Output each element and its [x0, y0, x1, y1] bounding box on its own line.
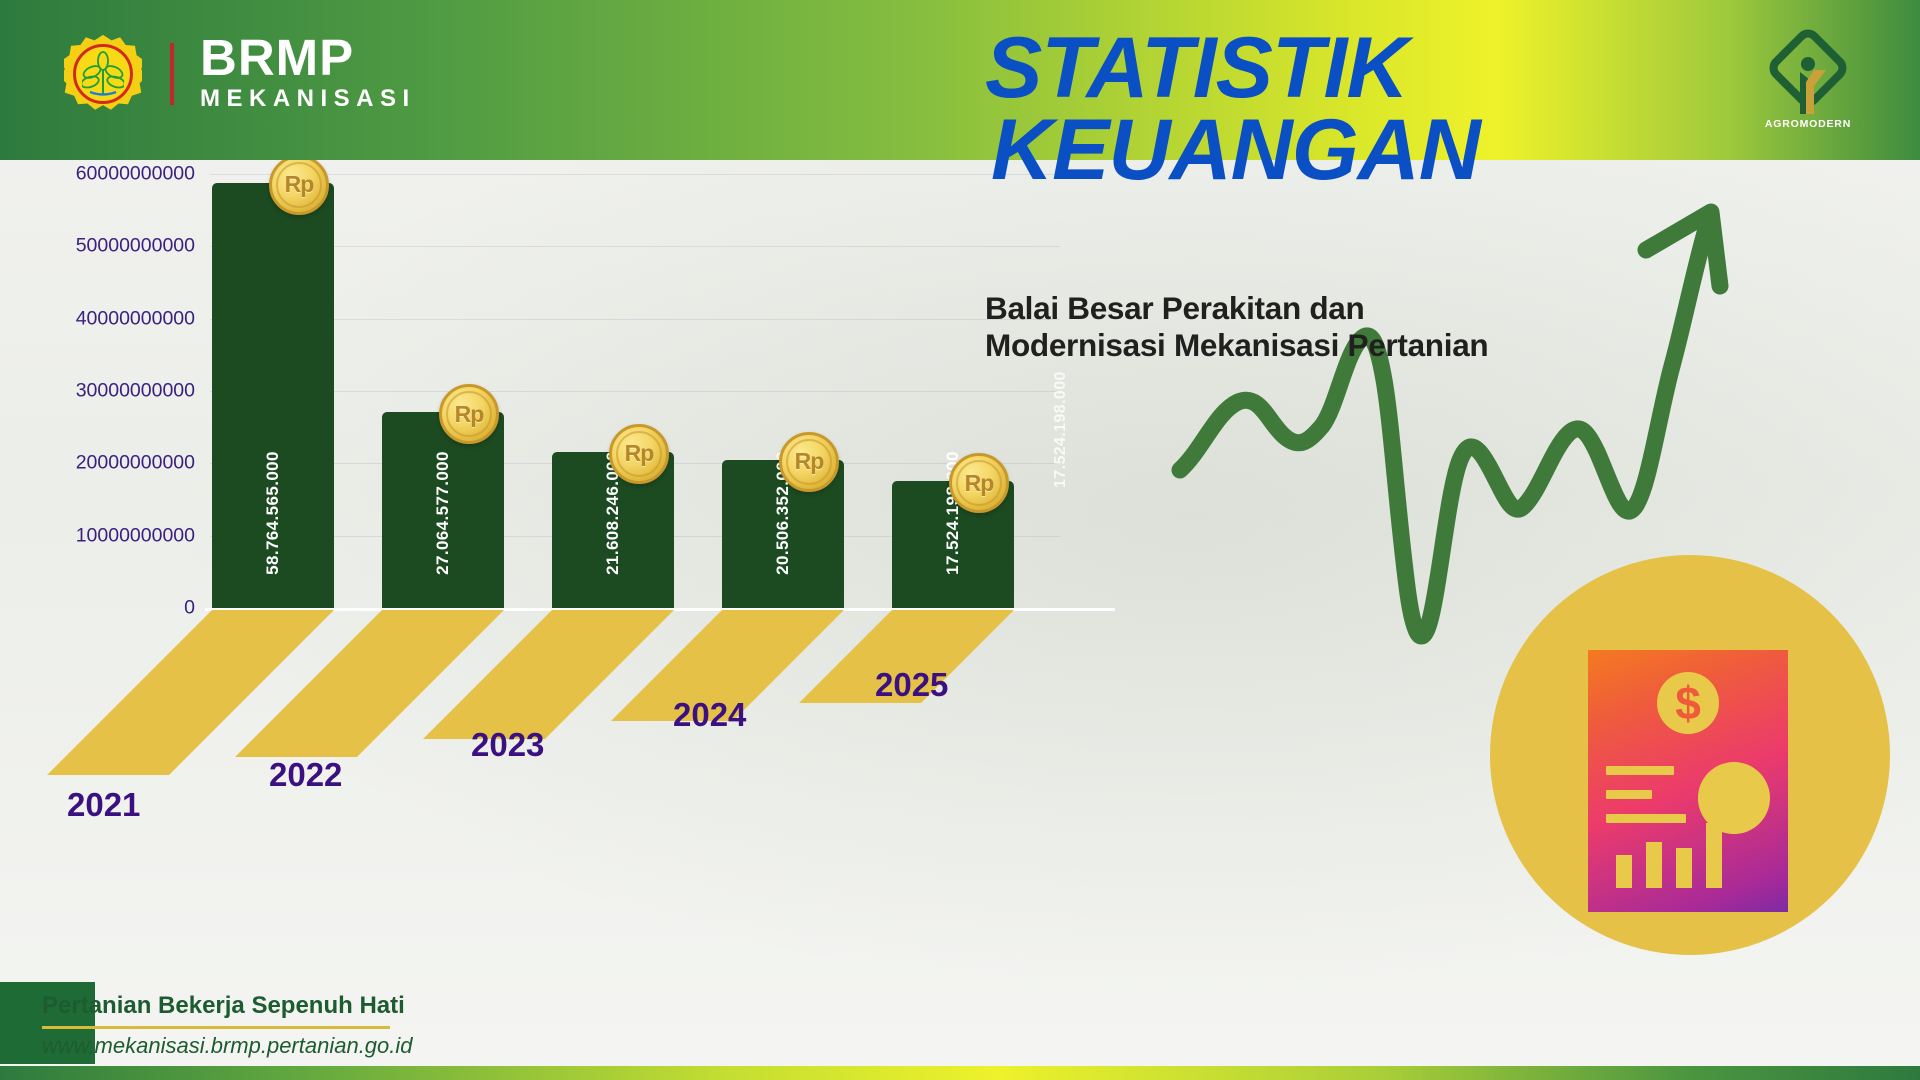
chart-plot-area: 58.764.565.000Rp202127.064.577.000Rp2022…	[0, 160, 1160, 880]
bar-2021[interactable]: 58.764.565.000	[212, 183, 334, 608]
brand-subname: MEKANISASI	[200, 85, 416, 114]
rupiah-coin-label: Rp	[616, 431, 662, 477]
bar-chart: 6000000000050000000000400000000003000000…	[0, 160, 1160, 880]
footer-divider	[42, 1026, 390, 1029]
brand-lockup: BRMP MEKANISASI	[64, 34, 416, 114]
rupiah-coin-icon: Rp	[779, 432, 839, 492]
dollar-coin-icon: $	[1657, 672, 1719, 734]
rupiah-coin-icon: Rp	[439, 384, 499, 444]
x-axis-year-label-2023: 2023	[471, 726, 544, 764]
bar-value-label: 27.064.577.000	[433, 451, 453, 575]
infographic-canvas: BRMP MEKANISASI AGROMODERN STATISTIK KEU…	[0, 0, 1920, 1080]
rupiah-coin-icon: Rp	[269, 155, 329, 215]
footer: Pertanian Bekerja Sepenuh Hati www.mekan…	[0, 970, 1920, 1080]
subtitle-line-2: Modernisasi Mekanisasi Pertanian	[985, 327, 1745, 364]
page-subtitle: Balai Besar Perakitan dan Modernisasi Me…	[985, 290, 1745, 365]
rupiah-coin-label: Rp	[446, 391, 492, 437]
financial-report-icon: $	[1588, 650, 1788, 912]
rice-plant-icon	[82, 50, 124, 98]
report-text-line	[1606, 814, 1686, 823]
rupiah-coin-label: Rp	[956, 460, 1002, 506]
subtitle-line-1: Balai Besar Perakitan dan	[985, 290, 1745, 327]
x-axis-year-label-2025: 2025	[875, 666, 948, 704]
x-axis-year-label-2022: 2022	[269, 756, 342, 794]
ministry-agriculture-seal-icon	[64, 35, 142, 113]
rupiah-coin-label: Rp	[276, 162, 322, 208]
report-text-line	[1606, 790, 1652, 799]
report-bar	[1676, 848, 1692, 888]
bar-value-label: 58.764.565.000	[263, 451, 283, 575]
footer-gradient-strip	[0, 1066, 1920, 1080]
x-axis-year-label-2024: 2024	[673, 696, 746, 734]
footer-tagline: Pertanian Bekerja Sepenuh Hati	[42, 992, 405, 1020]
brand-text: BRMP MEKANISASI	[200, 34, 416, 114]
report-bar	[1706, 823, 1722, 888]
report-bar	[1616, 855, 1632, 888]
title-line-1: STATISTIK	[985, 28, 1685, 110]
brand-divider	[170, 43, 174, 105]
footer-website[interactable]: www.mekanisasi.brmp.pertanian.go.id	[42, 1033, 413, 1059]
title-line-2: KEUANGAN	[991, 110, 1685, 192]
rupiah-coin-icon: Rp	[609, 424, 669, 484]
bar-value-ghost-label: 17.524.198.000	[1052, 371, 1070, 488]
brand-name: BRMP	[200, 34, 416, 83]
bar-2022[interactable]: 27.064.577.000	[382, 412, 504, 608]
rupiah-coin-label: Rp	[786, 439, 832, 485]
page-title: STATISTIK KEUANGAN	[985, 28, 1685, 191]
report-bar	[1646, 842, 1662, 888]
agromodern-logo-icon: AGROMODERN	[1756, 28, 1860, 132]
agromodern-label: AGROMODERN	[1756, 118, 1860, 130]
x-axis-year-label-2021: 2021	[67, 786, 140, 824]
finance-illustration: $	[1160, 150, 1920, 890]
report-text-line	[1606, 766, 1674, 775]
rupiah-coin-icon: Rp	[949, 453, 1009, 513]
